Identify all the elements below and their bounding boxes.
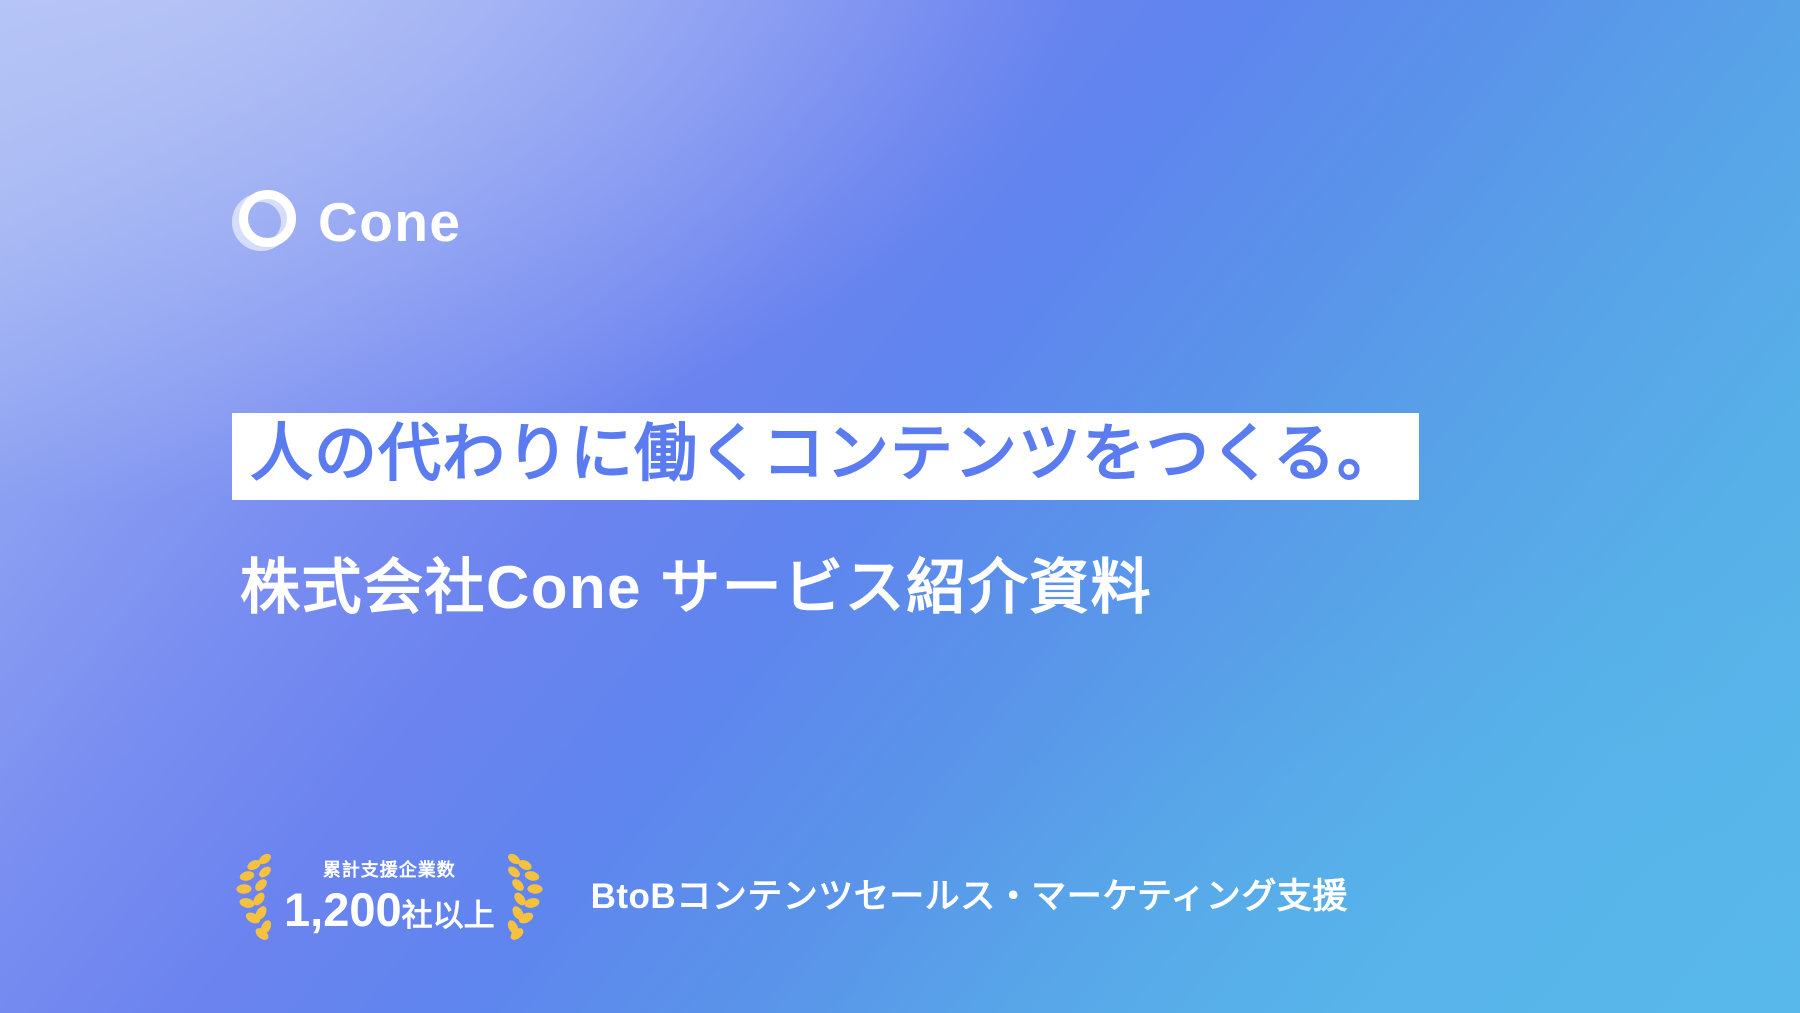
award-value: 1,200社以上 — [284, 885, 495, 934]
award-label: 累計支援企業数 — [284, 860, 495, 882]
cone-ring-logo-icon — [232, 190, 296, 254]
laurel-wreath-left-icon — [232, 848, 278, 946]
laurel-wreath-right-icon — [501, 848, 547, 946]
logo-ring — [239, 190, 296, 247]
headline-band: 人の代わりに働くコンテンツをつくる。 — [232, 413, 1419, 500]
brand-logo: Cone — [232, 190, 462, 254]
footer-row: 累計支援企業数 1,200社以上 — [232, 848, 1348, 946]
tagline-text: BtoBコンテンツセールス・マーケティング支援 — [591, 876, 1348, 918]
headline-text: 人の代わりに働くコンテンツをつくる。 — [250, 419, 1401, 490]
award-badge: 累計支援企業数 1,200社以上 — [232, 848, 547, 946]
award-copy: 累計支援企業数 1,200社以上 — [280, 860, 499, 934]
award-number: 1,200 — [284, 883, 402, 936]
award-suffix: 社以上 — [402, 898, 495, 933]
brand-name: Cone — [318, 195, 462, 250]
title-slide: Cone 人の代わりに働くコンテンツをつくる。 株式会社Cone サービス紹介資… — [0, 0, 1800, 1013]
subtitle-text: 株式会社Cone サービス紹介資料 — [240, 552, 1152, 624]
